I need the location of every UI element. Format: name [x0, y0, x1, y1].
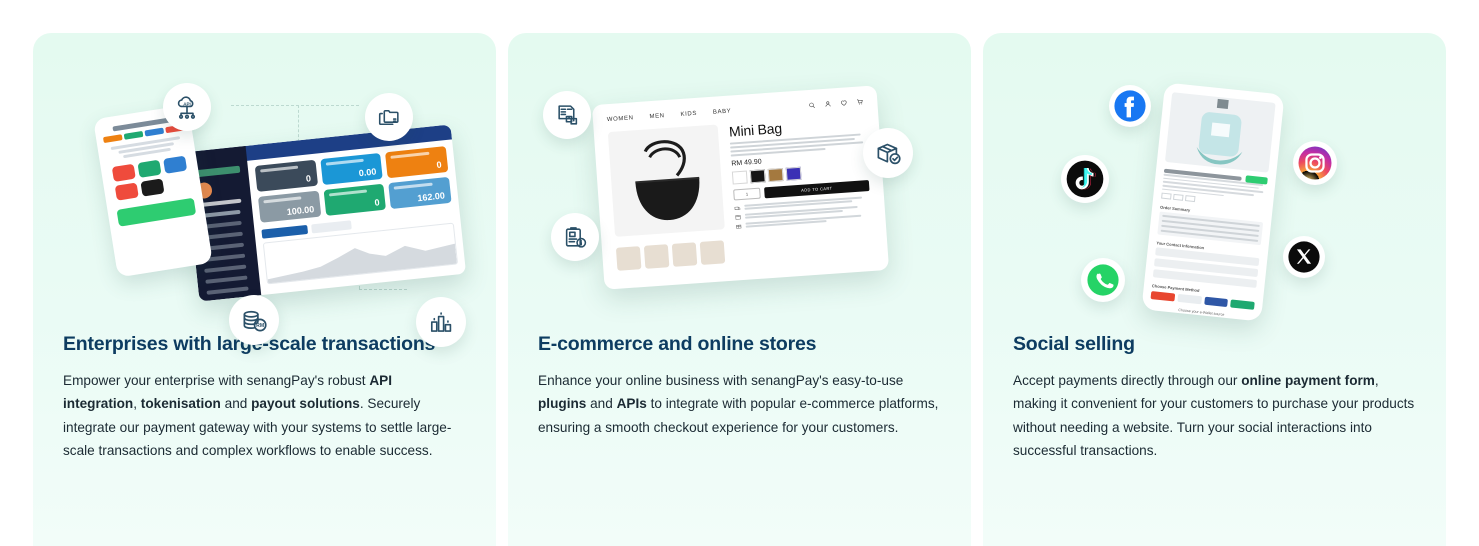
feature-cards-row: 0 0.00 0 100.00 0 162.00 [0, 0, 1479, 546]
clipboard-info-glyph [563, 225, 588, 250]
return-icon [735, 214, 741, 220]
feature-card-ecommerce: WOMEN MEN KIDS BABY [508, 33, 971, 546]
ewallet-option-grid[interactable] [112, 156, 190, 201]
feature-card-social-selling: Order Summary Your Contact Information C… [983, 33, 1446, 546]
svg-text:API: API [183, 101, 191, 106]
card-body-text: Enhance your online business with senang… [538, 369, 941, 439]
page-title: Social selling [1013, 333, 1416, 356]
coins-rm-glyph: RM [241, 307, 268, 334]
quantity-stepper[interactable]: 1 [733, 188, 761, 201]
stat-card: 0.00 [320, 153, 383, 185]
stat-card: 162.00 [389, 177, 452, 209]
stat-card: 100.00 [258, 191, 321, 223]
swatch-tan[interactable] [768, 168, 784, 182]
connector-line [359, 289, 407, 290]
svg-text:RM: RM [256, 323, 264, 329]
shipping-icon [734, 205, 740, 211]
nav-item-women[interactable]: WOMEN [607, 115, 634, 123]
gift-icon [736, 223, 742, 229]
product-detail: Mini Bag RM 49.90 1 ADD TO CART [608, 114, 872, 241]
page-title: E-commerce and online stores [538, 333, 941, 356]
enterprise-illustration: 0 0.00 0 100.00 0 162.00 [33, 33, 496, 333]
mini-bag-illustration [608, 124, 725, 236]
folders-icon [365, 93, 413, 141]
ecommerce-text-block: E-commerce and online stores Enhance you… [508, 333, 971, 439]
payment-method-phone-mockup [93, 104, 213, 277]
swatch-white[interactable] [732, 171, 748, 185]
payment-form-phone-mockup: Order Summary Your Contact Information C… [1141, 82, 1284, 321]
swatch-black[interactable] [750, 169, 766, 183]
instagram-icon[interactable] [1293, 141, 1337, 185]
bar-chart-glyph [428, 309, 454, 335]
tiktok-icon[interactable] [1061, 155, 1109, 203]
nav-item-kids[interactable]: KIDS [680, 110, 697, 117]
product-image [1165, 92, 1276, 172]
sidebar-item-platform[interactable] [206, 286, 248, 294]
product-photo[interactable] [608, 124, 725, 236]
stat-card: 0 [385, 146, 448, 178]
x-twitter-icon[interactable] [1283, 236, 1325, 278]
inventory-list-glyph [555, 103, 580, 128]
tiktok-glyph[interactable] [1065, 159, 1105, 199]
connector-line [231, 105, 359, 106]
cart-icon[interactable] [856, 98, 863, 105]
nav-item-baby[interactable]: BABY [713, 108, 732, 115]
facebook-glyph[interactable] [1113, 89, 1147, 123]
feature-card-enterprises: 0 0.00 0 100.00 0 162.00 [33, 33, 496, 546]
bar-chart-icon [416, 297, 466, 347]
enterprise-text-block: Enterprises with large-scale transaction… [33, 333, 496, 463]
stat-card: 0 [323, 184, 386, 216]
sidebar-item-transaction[interactable] [205, 275, 247, 283]
thumbnail[interactable] [700, 240, 726, 265]
product-page-mockup: WOMEN MEN KIDS BABY [592, 85, 889, 289]
box-check-icon [863, 128, 913, 178]
product-features [734, 196, 871, 230]
stat-card: 0 [255, 160, 318, 192]
x-twitter-glyph[interactable] [1287, 240, 1321, 274]
coins-rm-icon: RM [229, 295, 279, 345]
social-text-block: Social selling Accept payments directly … [983, 333, 1446, 463]
card-body-text: Accept payments directly through our onl… [1013, 369, 1416, 463]
thumbnail[interactable] [616, 246, 642, 271]
api-cloud-glyph: API [174, 94, 200, 120]
whatsapp-icon[interactable] [1081, 258, 1125, 302]
box-check-glyph [875, 140, 902, 167]
heart-icon[interactable] [840, 99, 847, 106]
thumbnail[interactable] [644, 244, 670, 269]
card-body-text: Empower your enterprise with senangPay's… [63, 369, 466, 463]
senangpay-logo [194, 166, 240, 178]
add-to-cart-button[interactable]: ADD TO CART [764, 180, 870, 198]
pay-now-button[interactable] [117, 198, 197, 227]
product-info: Mini Bag RM 49.90 1 ADD TO CART [729, 114, 872, 233]
social-selling-illustration: Order Summary Your Contact Information C… [983, 33, 1446, 333]
thumbnail[interactable] [672, 242, 698, 267]
ecommerce-illustration: WOMEN MEN KIDS BABY [508, 33, 971, 333]
perfume-bottle-illustration [1165, 92, 1276, 172]
inventory-list-icon [543, 91, 591, 139]
instagram-glyph[interactable] [1297, 145, 1333, 181]
api-cloud-icon: API [163, 83, 211, 131]
user-icon[interactable] [824, 100, 831, 107]
merchant-dashboard-mockup: 0 0.00 0 100.00 0 162.00 [184, 124, 466, 301]
stat-card-grid: 0 0.00 0 100.00 0 162.00 [255, 146, 452, 223]
swatch-blue[interactable] [786, 167, 802, 181]
clipboard-info-icon [551, 213, 599, 261]
sidebar-item-recurring[interactable] [204, 265, 246, 273]
whatsapp-glyph[interactable] [1086, 263, 1120, 297]
nav-item-men[interactable]: MEN [649, 113, 665, 120]
search-icon[interactable] [808, 102, 815, 109]
folders-glyph [377, 105, 402, 130]
facebook-icon[interactable] [1109, 85, 1151, 127]
